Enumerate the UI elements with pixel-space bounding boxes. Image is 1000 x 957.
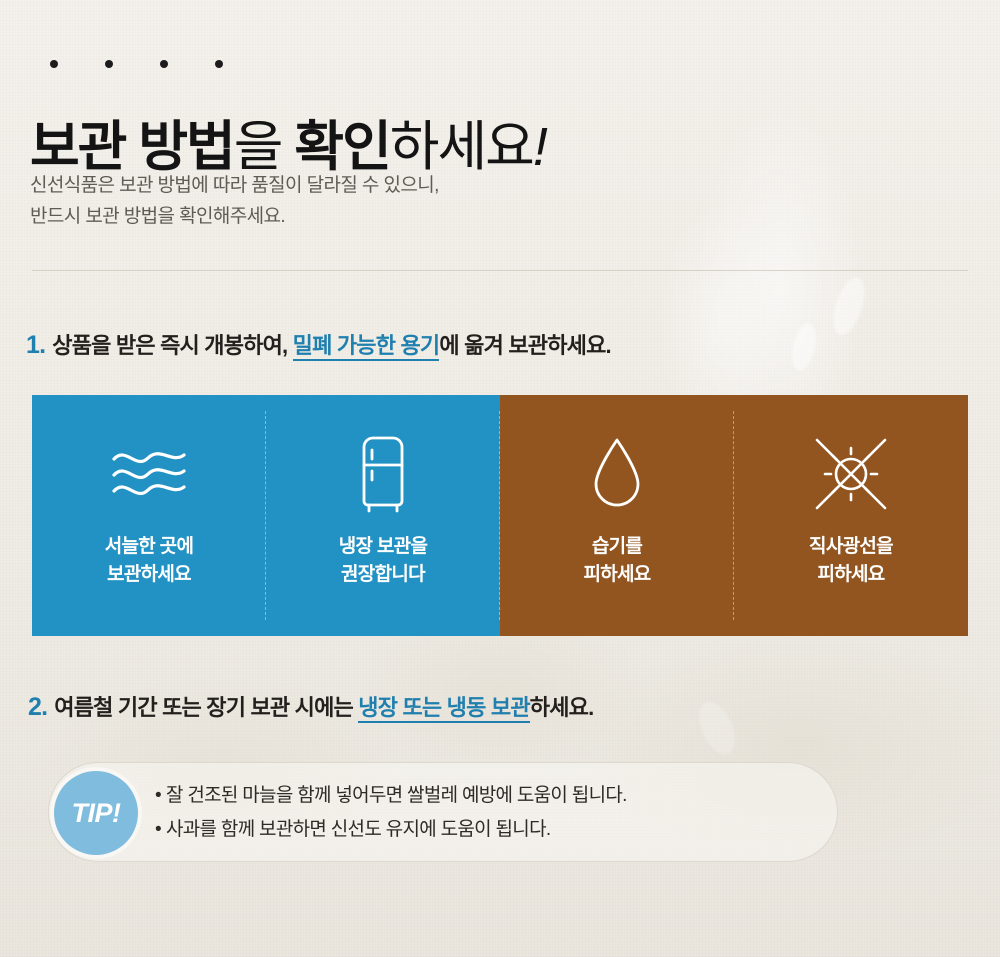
panel-caption-line-2: 피하세요 bbox=[809, 561, 893, 589]
page-subtitle-line-1: 신선식품은 보관 방법에 따라 품질이 달라질 수 있으니, bbox=[30, 170, 439, 201]
panel-refrigerate: 냉장 보관을 권장합니다 bbox=[266, 395, 500, 636]
decorative-dots bbox=[50, 60, 223, 68]
panel-cool-storage-caption: 서늘한 곳에 보관하세요 bbox=[105, 533, 193, 589]
tip-list-item: •사과를 함께 보관하면 신선도 유지에 도움이 됩니다. bbox=[155, 813, 835, 847]
storage-guide-page: 보관 방법을 확인하세요! 신선식품은 보관 방법에 따라 품질이 달라질 수 … bbox=[0, 0, 1000, 957]
decorative-dot bbox=[105, 60, 113, 68]
panel-avoid-moisture: 습기를 피하세요 bbox=[500, 395, 734, 636]
storage-condition-panels: 서늘한 곳에 보관하세요 냉장 보관을 권장합니다 bbox=[32, 395, 968, 636]
step-2-text: 2.여름철 기간 또는 장기 보관 시에는 냉장 또는 냉동 보관하세요. bbox=[28, 690, 593, 722]
step-2-before: 여름철 기간 또는 장기 보관 시에는 bbox=[54, 695, 358, 720]
page-title-part-4: 하세요 bbox=[390, 117, 533, 177]
step-1-after: 에 옮겨 보관하세요. bbox=[439, 333, 610, 358]
panel-refrigerate-caption: 냉장 보관을 권장합니다 bbox=[339, 533, 427, 589]
panel-caption-line-2: 권장합니다 bbox=[339, 561, 427, 589]
tip-list-item-text: 사과를 함께 보관하면 신선도 유지에 도움이 됩니다. bbox=[166, 819, 550, 840]
header-divider bbox=[32, 270, 968, 271]
bullet-icon: • bbox=[155, 779, 166, 813]
tip-badge-label: TIP! bbox=[72, 798, 121, 829]
step-2-after: 하세요. bbox=[530, 695, 594, 720]
step-1-highlight: 밀폐 가능한 용기 bbox=[293, 333, 440, 361]
page-title-exclamation: ! bbox=[533, 117, 547, 177]
panel-caption-line-2: 보관하세요 bbox=[105, 561, 193, 589]
page-title-part-3: 확인 bbox=[294, 117, 389, 177]
step-1-before: 상품을 받은 즉시 개봉하여, bbox=[52, 333, 292, 358]
page-subtitle-line-2: 반드시 보관 방법을 확인해주세요. bbox=[30, 201, 439, 232]
step-2-highlight: 냉장 또는 냉동 보관 bbox=[358, 695, 529, 723]
page-title: 보관 방법을 확인하세요! bbox=[30, 116, 547, 178]
tip-list-item-text: 잘 건조된 마늘을 함께 넣어두면 쌀벌레 예방에 도움이 됩니다. bbox=[166, 785, 627, 806]
tip-list-item: •잘 건조된 마늘을 함께 넣어두면 쌀벌레 예방에 도움이 됩니다. bbox=[155, 779, 835, 813]
water-drop-icon bbox=[590, 437, 644, 511]
decorative-dot bbox=[215, 60, 223, 68]
panel-avoid-sunlight: 직사광선을 피하세요 bbox=[734, 395, 968, 636]
decorative-dot bbox=[50, 60, 58, 68]
page-title-part-2: 을 bbox=[234, 117, 295, 177]
step-2-number: 2. bbox=[28, 693, 47, 721]
refrigerator-icon bbox=[356, 437, 410, 511]
no-sunlight-icon bbox=[811, 437, 891, 511]
panel-caption-line-2: 피하세요 bbox=[583, 561, 650, 589]
page-title-part-1: 보관 방법 bbox=[30, 117, 234, 177]
panel-caption-line-1: 습기를 bbox=[583, 533, 650, 561]
bullet-icon: • bbox=[155, 813, 166, 847]
step-1-number: 1. bbox=[26, 331, 45, 359]
panel-caption-line-1: 직사광선을 bbox=[809, 533, 893, 561]
step-1-text: 1.상품을 받은 즉시 개봉하여, 밀폐 가능한 용기에 옮겨 보관하세요. bbox=[26, 328, 611, 360]
panel-avoid-moisture-caption: 습기를 피하세요 bbox=[583, 533, 650, 589]
waves-icon bbox=[110, 437, 188, 511]
panel-caption-line-1: 서늘한 곳에 bbox=[105, 533, 193, 561]
panel-cool-storage: 서늘한 곳에 보관하세요 bbox=[32, 395, 266, 636]
page-subtitle: 신선식품은 보관 방법에 따라 품질이 달라질 수 있으니, 반드시 보관 방법… bbox=[30, 170, 439, 232]
decorative-dot bbox=[160, 60, 168, 68]
tip-list: •잘 건조된 마늘을 함께 넣어두면 쌀벌레 예방에 도움이 됩니다. •사과를… bbox=[155, 779, 835, 847]
panel-caption-line-1: 냉장 보관을 bbox=[339, 533, 427, 561]
tip-badge: TIP! bbox=[54, 771, 138, 855]
panel-avoid-sunlight-caption: 직사광선을 피하세요 bbox=[809, 533, 893, 589]
